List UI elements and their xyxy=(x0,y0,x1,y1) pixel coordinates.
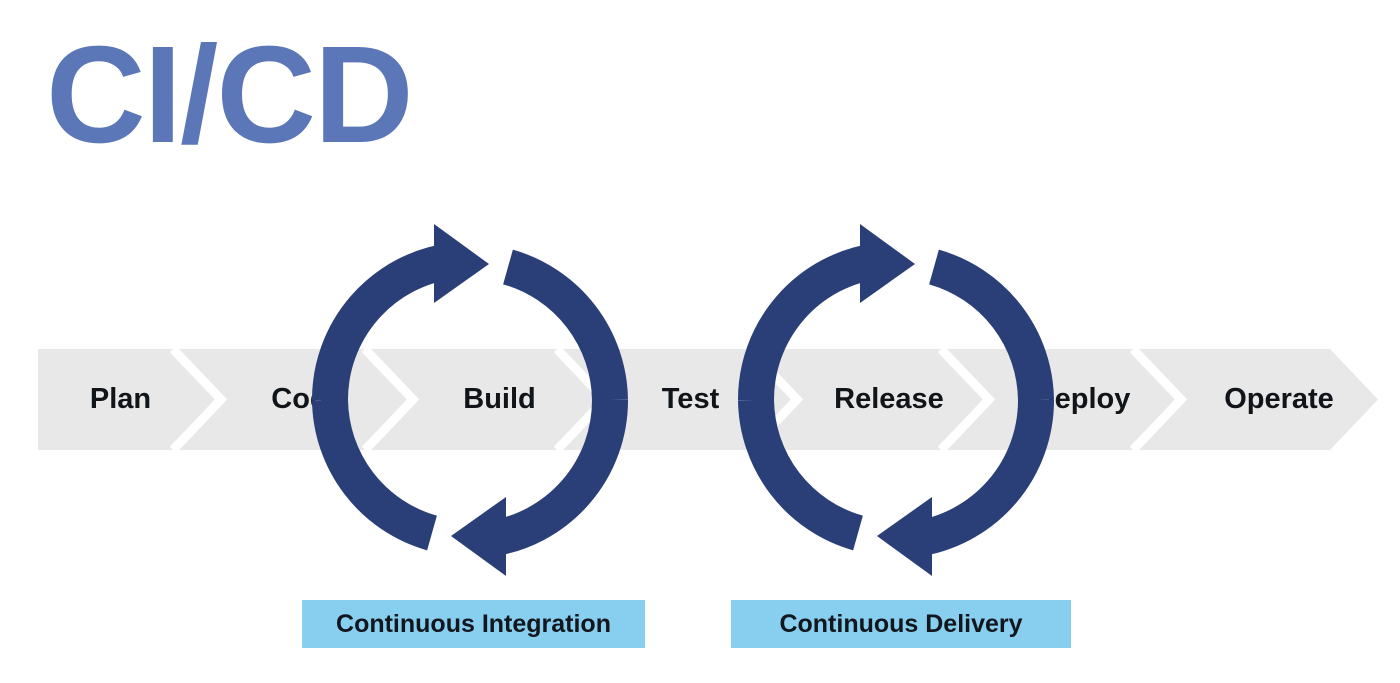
caption-continuous-delivery[interactable]: Continuous Delivery xyxy=(731,600,1071,648)
stage-label-test[interactable]: Test xyxy=(608,349,773,450)
caption-continuous-delivery-label: Continuous Delivery xyxy=(779,610,1022,639)
stage-label-build[interactable]: Build xyxy=(417,349,582,450)
ci-arrowhead-bottom xyxy=(451,497,506,576)
stage-label-plan[interactable]: Plan xyxy=(38,349,203,450)
stage-label-code[interactable]: Code xyxy=(225,349,390,450)
caption-continuous-integration-label: Continuous Integration xyxy=(336,610,611,639)
cicd-diagram: CI/CD Plan Code Build Test Release Deplo… xyxy=(0,0,1400,683)
ci-arrowhead-top xyxy=(434,224,489,303)
caption-continuous-integration[interactable]: Continuous Integration xyxy=(302,600,645,648)
cd-arrowhead-bottom xyxy=(877,497,932,576)
cd-arrowhead-top xyxy=(860,224,915,303)
stage-label-operate[interactable]: Operate xyxy=(1190,349,1368,450)
page-title: CI/CD xyxy=(46,20,506,170)
stage-label-release[interactable]: Release xyxy=(800,349,978,450)
stage-label-deploy[interactable]: Deploy xyxy=(996,349,1168,450)
